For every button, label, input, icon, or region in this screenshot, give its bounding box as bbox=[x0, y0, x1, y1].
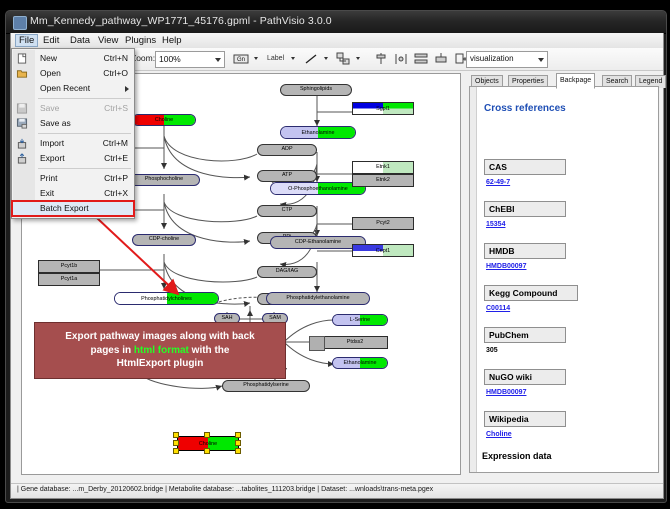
node-phosphatidylcholines-label: Phosphatidylcholines bbox=[115, 293, 218, 304]
gene-pcyt2[interactable]: Pcyt2 bbox=[352, 217, 414, 230]
menu-item-open-label: Open bbox=[40, 68, 61, 78]
xref-label-nugo: NuGO wiki bbox=[484, 369, 566, 385]
file-menu-popup[interactable]: New Ctrl+N Open Ctrl+O Open Recent Save … bbox=[11, 48, 135, 219]
menu-item-export-label: Export bbox=[40, 153, 65, 163]
node-cdp-choline[interactable]: CDP-choline bbox=[132, 234, 196, 246]
resize-handle-sw[interactable] bbox=[173, 448, 179, 454]
label-dropdown-icon[interactable] bbox=[291, 57, 295, 60]
import-icon bbox=[16, 138, 28, 149]
status-bar: | Gene database: ...m_Derby_20120602.bri… bbox=[11, 483, 663, 498]
title-bar[interactable]: Mm_Kennedy_pathway_WP1771_45176.gpml - P… bbox=[6, 11, 666, 34]
pathvisio-icon bbox=[13, 16, 27, 30]
annotation-highlight: html format bbox=[134, 345, 189, 356]
menu-item-open-recent[interactable]: Open Recent bbox=[12, 81, 134, 96]
menu-item-exit-accel: Ctrl+X bbox=[104, 188, 128, 198]
node-o-phosphoethanolamine-label: O-Phosphoethanolamine bbox=[271, 183, 365, 194]
menu-item-new-label: New bbox=[40, 53, 57, 63]
export-icon bbox=[16, 153, 28, 164]
gene-ptdss2[interactable]: Ptdss2 bbox=[322, 336, 388, 349]
cross-references-heading: Cross references bbox=[484, 103, 566, 114]
status-text: | Gene database: ...m_Derby_20120602.bri… bbox=[17, 486, 433, 493]
tab-backpage[interactable]: Backpage bbox=[556, 73, 595, 89]
menu-item-open-accel: Ctrl+O bbox=[103, 68, 128, 78]
label-tool-label[interactable]: Label bbox=[267, 55, 284, 62]
xref-value-kegg[interactable]: C00114 bbox=[486, 305, 510, 312]
node-ethanolamine-top-label: Ethanolamine bbox=[281, 127, 355, 138]
gene-etnk1[interactable]: Etnk1 bbox=[352, 161, 414, 174]
node-phosphatidylethanolamine[interactable]: Phosphatidylethanolamine bbox=[266, 292, 370, 305]
annotation-line1: Export pathway images along with back bbox=[65, 331, 255, 342]
menu-item-print-accel: Ctrl+P bbox=[104, 173, 128, 183]
chevron-down-icon-2 bbox=[538, 58, 544, 62]
node-choline-top[interactable]: Choline bbox=[132, 114, 196, 126]
resize-handle-e[interactable] bbox=[235, 440, 241, 446]
menu-separator-3 bbox=[38, 168, 131, 169]
annotation-line2a: pages in bbox=[91, 345, 134, 356]
annotation-callout: Export pathway images along with backpag… bbox=[34, 322, 286, 379]
xref-value-chebi[interactable]: 15354 bbox=[486, 221, 505, 228]
menu-item-open[interactable]: Open Ctrl+O bbox=[12, 66, 134, 81]
node-sphingolipids[interactable]: Sphingolipids bbox=[280, 84, 352, 96]
node-phosphocholine[interactable]: Phosphocholine bbox=[128, 174, 200, 186]
node-l-serine-label: L-Serine bbox=[333, 315, 387, 325]
annotation-line3: HtmlExport plugin bbox=[117, 358, 204, 369]
screen: Mm_Kennedy_pathway_WP1771_45176.gpml - P… bbox=[0, 0, 670, 509]
menu-file[interactable]: File bbox=[15, 34, 38, 47]
menu-separator-1 bbox=[38, 98, 131, 99]
menu-separator-2 bbox=[38, 133, 131, 134]
annotation-text: Export pathway images along with backpag… bbox=[65, 330, 255, 371]
svg-text:Gn: Gn bbox=[237, 57, 245, 63]
backpage-content: Cross references CAS 62-49-7 ChEBI 15354… bbox=[469, 86, 659, 473]
annotation-line2b: with the bbox=[189, 345, 230, 356]
open-folder-icon bbox=[16, 68, 28, 79]
save-as-icon bbox=[16, 118, 28, 129]
gene-cept1-label: Cept1 bbox=[353, 245, 413, 256]
resize-handle-w[interactable] bbox=[173, 440, 179, 446]
gene-sgpl1[interactable]: Sgpl1 bbox=[352, 102, 414, 115]
gene-sgpl1-label: Sgpl1 bbox=[353, 103, 413, 114]
visualization-combo[interactable]: visualization bbox=[466, 51, 548, 68]
node-ethanolamine-low[interactable]: Ethanolamine bbox=[332, 357, 388, 369]
shape-icon[interactable] bbox=[335, 51, 351, 67]
menu-edit[interactable]: Edit bbox=[39, 34, 63, 47]
node-atp[interactable]: ATP bbox=[257, 170, 317, 182]
node-phosphatidylserine[interactable]: Phosphatidylserine bbox=[222, 380, 310, 392]
distribute-icon[interactable] bbox=[393, 51, 409, 67]
node-dag-iag[interactable]: DAG/IAG bbox=[257, 266, 317, 278]
datanode-dropdown-icon[interactable] bbox=[254, 57, 258, 60]
menu-item-export[interactable]: Export Ctrl+E bbox=[12, 151, 134, 166]
resize-handle-s[interactable] bbox=[204, 448, 210, 454]
xref-value-pubchem: 305 bbox=[486, 347, 498, 354]
order-icon[interactable] bbox=[433, 51, 449, 67]
gene-etnk2[interactable]: Etnk2 bbox=[352, 174, 414, 187]
new-document-icon bbox=[16, 53, 28, 64]
gene-pcyt1a[interactable]: Pcyt1a bbox=[38, 273, 100, 286]
node-adp[interactable]: ADP bbox=[257, 144, 317, 156]
xref-value-cas[interactable]: 62-49-7 bbox=[486, 179, 510, 186]
menu-plugins[interactable]: Plugins bbox=[121, 34, 160, 47]
xref-label-chebi: ChEBI bbox=[484, 201, 566, 217]
callout-anchor bbox=[309, 336, 325, 351]
xref-value-wikipedia[interactable]: Choline bbox=[486, 431, 512, 438]
resize-handle-nw[interactable] bbox=[173, 432, 179, 438]
menu-item-open-recent-label: Open Recent bbox=[40, 83, 90, 93]
menu-item-save-as-label: Save as bbox=[40, 118, 71, 128]
menu-item-new[interactable]: New Ctrl+N bbox=[12, 51, 134, 66]
xref-value-nugo[interactable]: HMDB00097 bbox=[486, 389, 526, 396]
menu-item-import-label: Import bbox=[40, 138, 64, 148]
resize-handle-se[interactable] bbox=[235, 448, 241, 454]
node-choline-top-label: Choline bbox=[133, 115, 195, 125]
menu-item-save-as[interactable]: Save as bbox=[12, 116, 134, 131]
menu-item-export-accel: Ctrl+E bbox=[104, 153, 128, 163]
xref-label-cas: CAS bbox=[484, 159, 566, 175]
menu-bar: File Edit Data View Plugins Help bbox=[11, 33, 663, 49]
menu-view[interactable]: View bbox=[94, 34, 122, 47]
node-ethanolamine-top[interactable]: Ethanolamine bbox=[280, 126, 356, 139]
xref-value-hmdb[interactable]: HMDB00097 bbox=[486, 263, 526, 270]
visualization-value: visualization bbox=[470, 54, 514, 63]
side-panel: Objects Properties Backpage Search Legen… bbox=[463, 73, 659, 473]
xref-label-pubchem: PubChem bbox=[484, 327, 566, 343]
node-ctp[interactable]: CTP bbox=[257, 205, 317, 217]
gene-cept1[interactable]: Cept1 bbox=[352, 244, 414, 257]
node-ethanolamine-low-label: Ethanolamine bbox=[333, 358, 387, 368]
menu-item-exit-label: Exit bbox=[40, 188, 54, 198]
application-window: Mm_Kennedy_pathway_WP1771_45176.gpml - P… bbox=[5, 10, 667, 503]
save-disk-icon bbox=[16, 103, 28, 114]
menu-item-save-accel: Ctrl+S bbox=[104, 103, 128, 113]
zoom-combo[interactable]: 100% bbox=[155, 51, 225, 68]
gene-pcyt1b[interactable]: Pcyt1b bbox=[38, 260, 100, 273]
menu-item-import-accel: Ctrl+M bbox=[103, 138, 128, 148]
node-l-serine[interactable]: L-Serine bbox=[332, 314, 388, 326]
stack-icon[interactable] bbox=[413, 51, 429, 67]
node-phosphatidylcholines[interactable]: Phosphatidylcholines bbox=[114, 292, 219, 305]
window-title: Mm_Kennedy_pathway_WP1771_45176.gpml - P… bbox=[30, 15, 332, 27]
menu-item-batch-export[interactable]: Batch Export bbox=[12, 201, 134, 216]
resize-handle-n[interactable] bbox=[204, 432, 210, 438]
chevron-down-icon bbox=[215, 58, 221, 62]
menu-item-save: Save Ctrl+S bbox=[12, 101, 134, 116]
menu-item-import[interactable]: Import Ctrl+M bbox=[12, 136, 134, 151]
submenu-arrow-icon bbox=[125, 86, 129, 92]
menu-data[interactable]: Data bbox=[66, 34, 94, 47]
menu-item-save-label: Save bbox=[40, 103, 59, 113]
shape-dropdown-icon[interactable] bbox=[356, 57, 360, 60]
menu-item-new-accel: Ctrl+N bbox=[104, 53, 128, 63]
datanode-icon[interactable]: Gn bbox=[233, 51, 249, 67]
zoom-value: 100% bbox=[159, 54, 181, 64]
panel-scrollbar[interactable] bbox=[470, 87, 477, 472]
menu-help[interactable]: Help bbox=[158, 34, 186, 47]
menu-item-print[interactable]: Print Ctrl+P bbox=[12, 171, 134, 186]
menu-item-print-label: Print bbox=[40, 173, 57, 183]
align-icon[interactable] bbox=[373, 51, 389, 67]
line-icon[interactable] bbox=[303, 51, 319, 67]
menu-item-batch-export-label: Batch Export bbox=[40, 203, 89, 213]
resize-handle-ne[interactable] bbox=[235, 432, 241, 438]
xref-label-wikipedia: Wikipedia bbox=[484, 411, 566, 427]
expression-data-heading: Expression data bbox=[482, 451, 552, 461]
xref-label-kegg: Kegg Compound bbox=[484, 285, 578, 301]
menu-item-exit[interactable]: Exit Ctrl+X bbox=[12, 186, 134, 201]
line-dropdown-icon[interactable] bbox=[324, 57, 328, 60]
xref-label-hmdb: HMDB bbox=[484, 243, 566, 259]
